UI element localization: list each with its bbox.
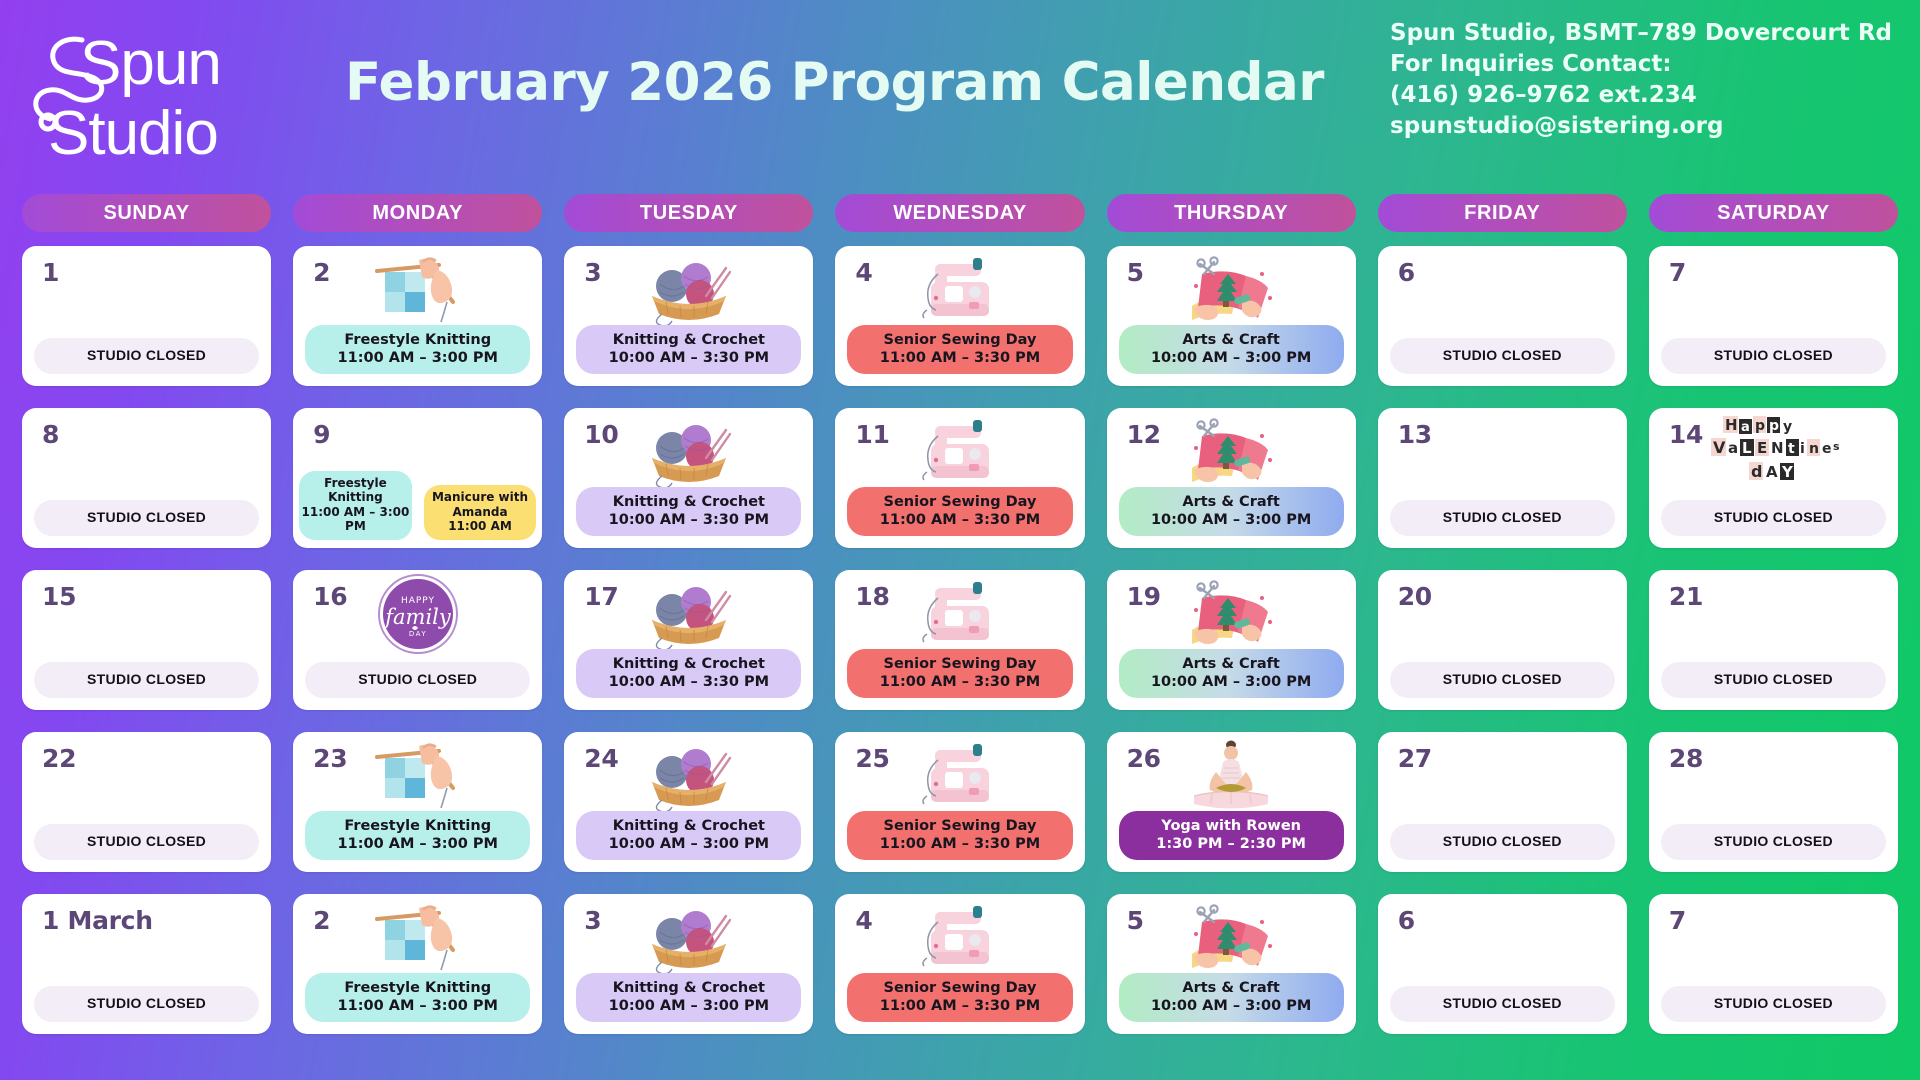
svg-text:Studio: Studio [48, 99, 218, 168]
status-badge: STUDIO CLOSED [305, 662, 530, 699]
event-slot[interactable]: Manicure with Amanda11:00 AM [418, 408, 543, 548]
svg-text:y: y [1783, 419, 1792, 435]
day-cell[interactable]: 3 Knitting & Crochet10:00 AM – 3:30 PM [564, 246, 813, 386]
event-title: Arts & Craft [1182, 332, 1280, 348]
day-cell[interactable]: 6STUDIO CLOSED [1378, 246, 1627, 386]
event-title: Arts & Craft [1182, 656, 1280, 672]
day-cell[interactable]: 23 Freestyle Knitting11:00 AM – 3:00 PM [293, 732, 542, 872]
event-title: Senior Sewing Day [884, 656, 1037, 672]
day-number: 2 [313, 258, 330, 287]
status-label: STUDIO CLOSED [87, 509, 206, 525]
status-label: STUDIO CLOSED [1443, 833, 1562, 849]
svg-text:p: p [1755, 418, 1765, 434]
status-badge: STUDIO CLOSED [34, 662, 259, 699]
event-pill[interactable]: Knitting & Crochet10:00 AM – 3:00 PM [576, 973, 801, 1022]
day-number: 11 [855, 420, 889, 449]
event-title: Yoga with Rowen [1161, 818, 1301, 834]
svg-text:E: E [1757, 439, 1767, 457]
weekday-header-sunday: SUNDAY [22, 194, 271, 232]
event-time: 10:00 AM – 3:00 PM [580, 835, 797, 853]
day-number: 6 [1398, 258, 1415, 287]
day-number: 13 [1398, 420, 1432, 449]
sewing-machine-icon [905, 900, 1015, 978]
day-number: 4 [855, 258, 872, 287]
knitting-hands-icon [363, 900, 473, 978]
event-pill[interactable]: Freestyle Knitting11:00 AM – 3:00 PM [299, 471, 412, 541]
event-pill[interactable]: Arts & Craft10:00 AM – 3:00 PM [1119, 325, 1344, 374]
event-time: 1:30 PM – 2:30 PM [1123, 835, 1340, 853]
svg-text:N: N [1771, 439, 1784, 457]
event-title: Knitting & Crochet [613, 494, 765, 510]
weekday-header-wednesday: WEDNESDAY [835, 194, 1084, 232]
day-number: 3 [584, 258, 601, 287]
sewing-machine-icon [905, 576, 1015, 654]
event-time: 11:00 AM – 3:00 PM [301, 505, 410, 534]
status-badge: STUDIO CLOSED [1661, 500, 1886, 537]
svg-text:s: s [1833, 440, 1840, 453]
event-time: 11:00 AM – 3:00 PM [309, 835, 526, 853]
day-cell[interactable]: 3 Knitting & Crochet10:00 AM – 3:00 PM [564, 894, 813, 1034]
status-badge: STUDIO CLOSED [1390, 500, 1615, 537]
day-cell[interactable]: 28STUDIO CLOSED [1649, 732, 1898, 872]
contact-inquiries: For Inquiries Contact: [1390, 49, 1892, 80]
svg-text:H: H [1725, 416, 1738, 434]
event-pill[interactable]: Senior Sewing Day11:00 AM – 3:30 PM [847, 325, 1072, 374]
event-pill[interactable]: Senior Sewing Day11:00 AM – 3:30 PM [847, 811, 1072, 860]
day-cell[interactable]: 10 Knitting & Crochet10:00 AM – 3:30 PM [564, 408, 813, 548]
day-cell[interactable]: 4 Senior Sewing Day11:00 AM – 3:30 PM [835, 894, 1084, 1034]
status-badge: STUDIO CLOSED [34, 338, 259, 375]
day-cell[interactable]: 18 Senior Sewing Day11:00 AM – 3:30 PM [835, 570, 1084, 710]
page-title: February 2026 Program Calendar [345, 52, 1324, 113]
event-slot[interactable]: Freestyle Knitting11:00 AM – 3:00 PM [293, 408, 418, 548]
day-number: 16 [313, 582, 347, 611]
contact-block: Spun Studio, BSMT–789 Dovercourt Rd For … [1390, 18, 1892, 142]
event-time: 11:00 AM – 3:30 PM [851, 673, 1068, 691]
contact-phone[interactable]: (416) 926–9762 ext.234 [1390, 80, 1892, 111]
status-badge: STUDIO CLOSED [1390, 338, 1615, 375]
svg-text:L: L [1742, 439, 1752, 457]
yarn-basket-icon [634, 576, 744, 654]
svg-text:i: i [1800, 441, 1805, 457]
status-label: STUDIO CLOSED [1714, 833, 1833, 849]
status-badge: STUDIO CLOSED [1390, 986, 1615, 1023]
event-title: Manicure with Amanda [432, 490, 528, 519]
event-title: Arts & Craft [1182, 980, 1280, 996]
status-badge: STUDIO CLOSED [34, 824, 259, 861]
event-pill[interactable]: Knitting & Crochet10:00 AM – 3:30 PM [576, 325, 801, 374]
day-number: 8 [42, 420, 59, 449]
event-title: Senior Sewing Day [884, 980, 1037, 996]
valentines-day-icon: H a p p y V a L E N [1705, 412, 1841, 488]
event-pill[interactable]: Senior Sewing Day11:00 AM – 3:30 PM [847, 487, 1072, 536]
event-pill[interactable]: Manicure with Amanda11:00 AM [424, 485, 537, 540]
day-cell[interactable]: 1STUDIO CLOSED [22, 246, 271, 386]
yoga-icon [1176, 738, 1286, 816]
status-label: STUDIO CLOSED [1714, 995, 1833, 1011]
day-cell[interactable]: 1 MarchSTUDIO CLOSED [22, 894, 271, 1034]
sewing-machine-icon [905, 252, 1015, 330]
day-cell[interactable]: 17 Knitting & Crochet10:00 AM – 3:30 PM [564, 570, 813, 710]
weekday-header-tuesday: TUESDAY [564, 194, 813, 232]
day-number: 1 [42, 258, 59, 287]
day-cell[interactable]: 4 Senior Sewing Day11:00 AM – 3:30 PM [835, 246, 1084, 386]
day-number: 24 [584, 744, 618, 773]
weekday-header-monday: MONDAY [293, 194, 542, 232]
event-time: 10:00 AM – 3:00 PM [1123, 511, 1340, 529]
svg-text:A: A [1766, 463, 1778, 481]
day-number: 10 [584, 420, 618, 449]
contact-address: Spun Studio, BSMT–789 Dovercourt Rd [1390, 18, 1892, 49]
day-cell[interactable]: 22STUDIO CLOSED [22, 732, 271, 872]
svg-text:Spun: Spun [80, 29, 221, 98]
knitting-hands-icon [363, 252, 473, 330]
event-pill[interactable]: Arts & Craft10:00 AM – 3:00 PM [1119, 487, 1344, 536]
day-number: 23 [313, 744, 347, 773]
svg-text:family: family [383, 605, 452, 629]
event-time: 11:00 AM – 3:00 PM [309, 349, 526, 367]
day-number: 5 [1127, 906, 1144, 935]
day-cell[interactable]: 13STUDIO CLOSED [1378, 408, 1627, 548]
status-badge: STUDIO CLOSED [1390, 824, 1615, 861]
day-number: 2 [313, 906, 330, 935]
day-number: 15 [42, 582, 76, 611]
day-cell[interactable]: 21STUDIO CLOSED [1649, 570, 1898, 710]
event-pill[interactable]: Freestyle Knitting11:00 AM – 3:00 PM [305, 325, 530, 374]
event-pill[interactable]: Senior Sewing Day11:00 AM – 3:30 PM [847, 649, 1072, 698]
svg-text:Y: Y [1781, 463, 1794, 481]
event-title: Freestyle Knitting [344, 980, 491, 996]
event-pill[interactable]: Knitting & Crochet10:00 AM – 3:30 PM [576, 487, 801, 536]
status-badge: STUDIO CLOSED [1661, 338, 1886, 375]
weekday-header-friday: FRIDAY [1378, 194, 1627, 232]
event-time: 11:00 AM – 3:00 PM [309, 997, 526, 1015]
day-number: 7 [1669, 906, 1686, 935]
event-title: Freestyle Knitting [344, 818, 491, 834]
event-time: 10:00 AM – 3:30 PM [580, 511, 797, 529]
yarn-basket-icon [634, 414, 744, 492]
event-pill[interactable]: Freestyle Knitting11:00 AM – 3:00 PM [305, 973, 530, 1022]
event-time: 10:00 AM – 3:00 PM [1123, 673, 1340, 691]
status-label: STUDIO CLOSED [1714, 347, 1833, 363]
event-pill[interactable]: Yoga with Rowen1:30 PM – 2:30 PM [1119, 811, 1344, 860]
day-cell[interactable]: 2 Freestyle Knitting11:00 AM – 3:00 PM [293, 894, 542, 1034]
day-number: 12 [1127, 420, 1161, 449]
event-title: Freestyle Knitting [344, 332, 491, 348]
day-cell[interactable]: 9 Freestyle Knitting11:00 AM – 3:00 PM [293, 408, 542, 548]
event-pill[interactable]: Senior Sewing Day11:00 AM – 3:30 PM [847, 973, 1072, 1022]
knitting-hands-icon [363, 738, 473, 816]
event-title: Senior Sewing Day [884, 332, 1037, 348]
day-cell[interactable]: 14 H a p p y V a [1649, 408, 1898, 548]
event-pill[interactable]: Knitting & Crochet10:00 AM – 3:30 PM [576, 649, 801, 698]
status-badge: STUDIO CLOSED [1661, 986, 1886, 1023]
event-time: 10:00 AM – 3:00 PM [1123, 349, 1340, 367]
page-header: Spun Studio February 2026 Program Calend… [0, 0, 1920, 196]
day-cell[interactable]: 15STUDIO CLOSED [22, 570, 271, 710]
event-time: 11:00 AM – 3:30 PM [851, 835, 1068, 853]
day-number: 26 [1127, 744, 1161, 773]
day-cell[interactable]: 2 Freestyle Knitting11:00 AM – 3:00 PM [293, 246, 542, 386]
arts-craft-icon [1176, 900, 1286, 978]
calendar-grid: 1STUDIO CLOSED2 Freestyle Knitting11:00 … [22, 246, 1898, 1034]
day-cell[interactable]: 11 Senior Sewing Day11:00 AM – 3:30 PM [835, 408, 1084, 548]
arts-craft-icon [1176, 576, 1286, 654]
svg-text:a: a [1741, 420, 1750, 435]
status-label: STUDIO CLOSED [87, 671, 206, 687]
day-cell[interactable]: 24 Knitting & Crochet10:00 AM – 3:00 PM [564, 732, 813, 872]
event-time: 10:00 AM – 3:00 PM [1123, 997, 1340, 1015]
calendar-page: Spun Studio February 2026 Program Calend… [0, 0, 1920, 1080]
status-badge: STUDIO CLOSED [1661, 662, 1886, 699]
event-time: 10:00 AM – 3:30 PM [580, 349, 797, 367]
day-cell[interactable]: 27STUDIO CLOSED [1378, 732, 1627, 872]
status-label: STUDIO CLOSED [87, 995, 206, 1011]
sewing-machine-icon [905, 738, 1015, 816]
day-cell[interactable]: 8STUDIO CLOSED [22, 408, 271, 548]
svg-text:V: V [1713, 438, 1726, 457]
day-number: 5 [1127, 258, 1144, 287]
day-number: 3 [584, 906, 601, 935]
yarn-basket-icon [634, 738, 744, 816]
day-number: 17 [584, 582, 618, 611]
day-number: 28 [1669, 744, 1703, 773]
event-time: 11:00 AM – 3:30 PM [851, 511, 1068, 529]
arts-craft-icon [1176, 414, 1286, 492]
day-cell[interactable]: 26 Yoga with Rowen1:30 PM – 2:30 PM [1107, 732, 1356, 872]
day-cell[interactable]: 6STUDIO CLOSED [1378, 894, 1627, 1034]
day-number: 21 [1669, 582, 1703, 611]
event-title: Knitting & Crochet [613, 818, 765, 834]
day-cell[interactable]: 7STUDIO CLOSED [1649, 894, 1898, 1034]
day-cell[interactable]: 5 Arts & Craft10:00 AM – 3:00 PM [1107, 894, 1356, 1034]
svg-text:n: n [1809, 441, 1819, 457]
status-label: STUDIO CLOSED [1714, 509, 1833, 525]
status-label: STUDIO CLOSED [87, 833, 206, 849]
event-title: Senior Sewing Day [884, 494, 1037, 510]
arts-craft-icon [1176, 252, 1286, 330]
day-cell[interactable]: 25 Senior Sewing Day11:00 AM – 3:30 PM [835, 732, 1084, 872]
day-cell[interactable]: 20STUDIO CLOSED [1378, 570, 1627, 710]
status-badge: STUDIO CLOSED [34, 986, 259, 1023]
day-number: 25 [855, 744, 889, 773]
day-number: 18 [855, 582, 889, 611]
day-cell[interactable]: 5 Arts & Craft10:00 AM – 3:00 PM [1107, 246, 1356, 386]
day-number: 22 [42, 744, 76, 773]
status-label: STUDIO CLOSED [1443, 347, 1562, 363]
event-pill[interactable]: Arts & Craft10:00 AM – 3:00 PM [1119, 649, 1344, 698]
svg-text:d: d [1751, 462, 1762, 481]
day-cell[interactable]: 7STUDIO CLOSED [1649, 246, 1898, 386]
multi-event-wrapper: Freestyle Knitting11:00 AM – 3:00 PM Man… [293, 408, 542, 548]
weekday-header-row: SUNDAYMONDAYTUESDAYWEDNESDAYTHURSDAYFRID… [22, 194, 1898, 232]
contact-email[interactable]: spunstudio@sistering.org [1390, 111, 1892, 142]
status-label: STUDIO CLOSED [358, 671, 477, 687]
status-badge: STUDIO CLOSED [1390, 662, 1615, 699]
status-label: STUDIO CLOSED [1443, 671, 1562, 687]
event-pill[interactable]: Knitting & Crochet10:00 AM – 3:00 PM [576, 811, 801, 860]
day-cell[interactable]: 12 Arts & Craft10:00 AM – 3:00 PM [1107, 408, 1356, 548]
status-badge: STUDIO CLOSED [34, 500, 259, 537]
event-title: Freestyle Knitting [324, 476, 387, 505]
event-time: 11:00 AM – 3:30 PM [851, 997, 1068, 1015]
svg-text:p: p [1769, 418, 1779, 434]
svg-text:t: t [1788, 441, 1795, 457]
day-number: 27 [1398, 744, 1432, 773]
day-cell[interactable]: 16 HAPPY family DAY STUDIO CLOSED [293, 570, 542, 710]
family-day-icon: HAPPY family DAY [376, 572, 460, 656]
day-number: 1 March [42, 906, 153, 935]
spun-studio-logo: Spun Studio [20, 14, 290, 184]
event-time: 11:00 AM [426, 519, 535, 534]
event-title: Knitting & Crochet [613, 656, 765, 672]
sewing-machine-icon [905, 414, 1015, 492]
event-title: Knitting & Crochet [613, 332, 765, 348]
yarn-basket-icon [634, 252, 744, 330]
event-pill[interactable]: Arts & Craft10:00 AM – 3:00 PM [1119, 973, 1344, 1022]
weekday-header-saturday: SATURDAY [1649, 194, 1898, 232]
event-title: Knitting & Crochet [613, 980, 765, 996]
event-time: 11:00 AM – 3:30 PM [851, 349, 1068, 367]
status-label: STUDIO CLOSED [87, 347, 206, 363]
status-badge: STUDIO CLOSED [1661, 824, 1886, 861]
event-time: 10:00 AM – 3:30 PM [580, 673, 797, 691]
day-number: 7 [1669, 258, 1686, 287]
svg-text:a: a [1728, 439, 1738, 457]
status-label: STUDIO CLOSED [1443, 509, 1562, 525]
day-number: 14 [1669, 420, 1703, 449]
day-number: 4 [855, 906, 872, 935]
day-number: 20 [1398, 582, 1432, 611]
weekday-header-thursday: THURSDAY [1107, 194, 1356, 232]
event-time: 10:00 AM – 3:00 PM [580, 997, 797, 1015]
yarn-basket-icon [634, 900, 744, 978]
day-cell[interactable]: 19 Arts & Craft10:00 AM – 3:00 PM [1107, 570, 1356, 710]
svg-text:DAY: DAY [409, 630, 427, 638]
event-pill[interactable]: Freestyle Knitting11:00 AM – 3:00 PM [305, 811, 530, 860]
event-title: Senior Sewing Day [884, 818, 1037, 834]
day-number: 19 [1127, 582, 1161, 611]
day-number: 6 [1398, 906, 1415, 935]
status-label: STUDIO CLOSED [1714, 671, 1833, 687]
svg-text:e: e [1822, 441, 1832, 457]
status-label: STUDIO CLOSED [1443, 995, 1562, 1011]
event-title: Arts & Craft [1182, 494, 1280, 510]
